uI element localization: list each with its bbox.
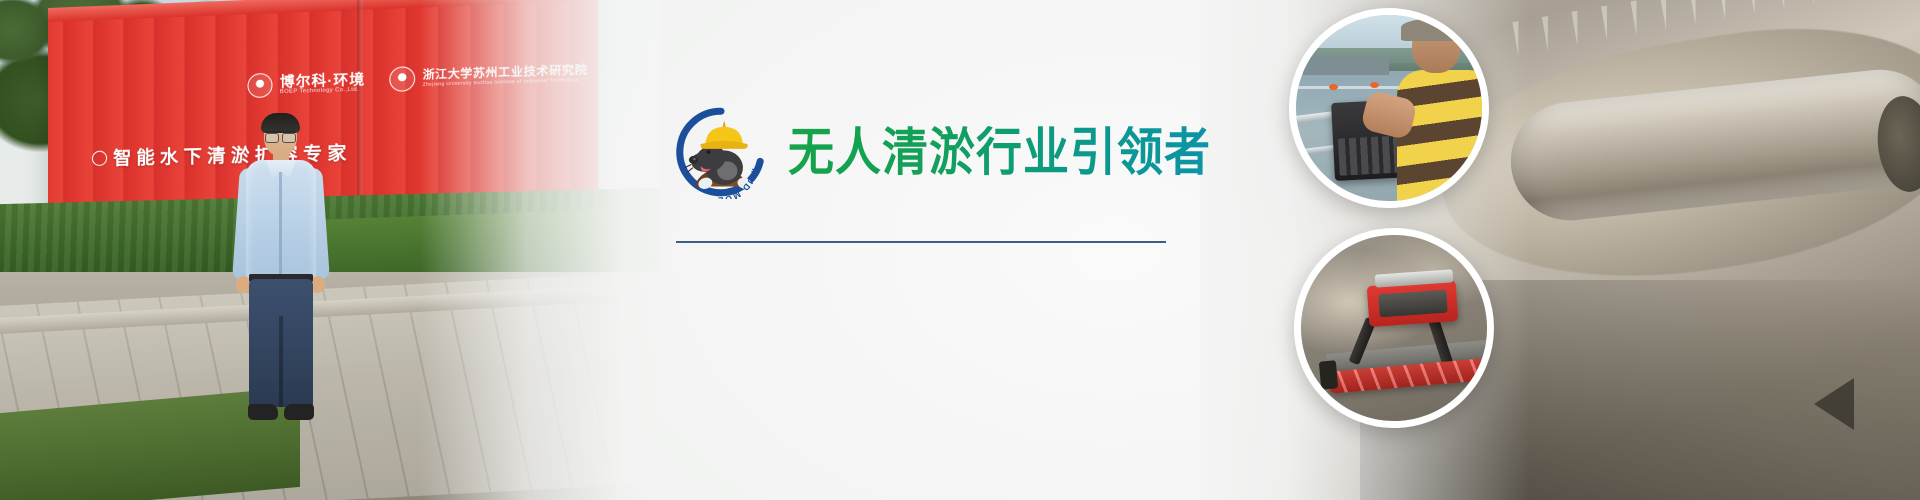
operator-figure <box>1389 19 1489 201</box>
container-brand-boep: 博尔科·环境 BOEP Technology Co.,Ltd. <box>247 70 365 98</box>
container-brand-en: BOEP Technology Co.,Ltd. <box>280 87 365 96</box>
left-photo: 博尔科·环境 BOEP Technology Co.,Ltd. 浙江大学苏州工业… <box>0 0 660 500</box>
photo-dredger <box>1294 228 1494 428</box>
slogan-badge-icon <box>92 150 107 165</box>
partner-badge-icon <box>389 66 415 92</box>
arrow-marker-icon <box>1814 378 1854 430</box>
boep-badge-icon <box>247 73 272 98</box>
left-photo-fade <box>420 0 660 500</box>
center-content: MUD MOLE 无人清淤行业引领者 <box>660 0 1220 500</box>
hero-banner: 博尔科·环境 BOEP Technology Co.,Ltd. 浙江大学苏州工业… <box>0 0 1920 500</box>
person-engineer <box>226 116 336 428</box>
headline-divider <box>676 241 1166 243</box>
photo-operator <box>1289 8 1489 208</box>
mud-mole-logo: MUD MOLE <box>674 105 768 199</box>
headline: 无人清淤行业引领者 <box>788 126 1211 178</box>
